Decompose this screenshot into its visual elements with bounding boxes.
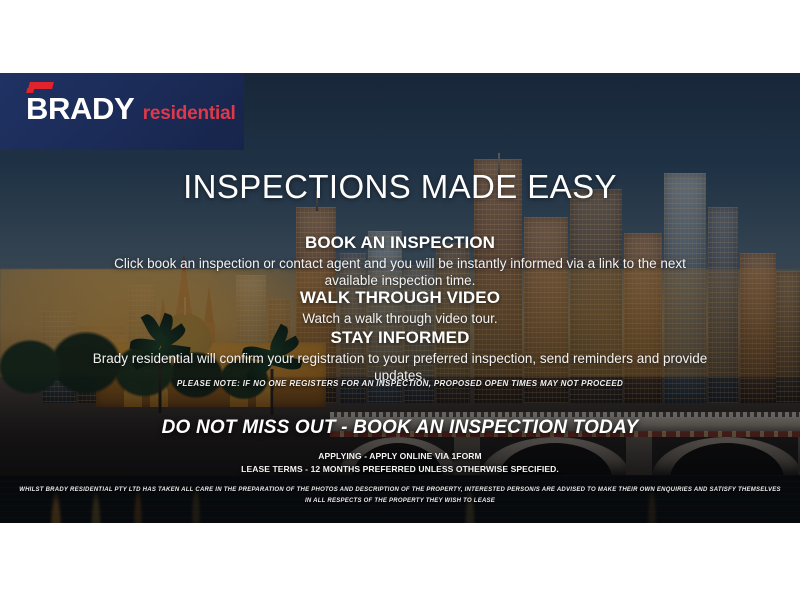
section-walk-through-video: WALK THROUGH VIDEO Watch a walk through … [0,288,800,327]
logo-suffix-text: residential [143,104,236,123]
section-title: BOOK AN INSPECTION [0,233,800,253]
hero-banner: BRADY residential INSPECTIONS MADE EASY … [0,73,800,523]
section-stay-informed: STAY INFORMED Brady residential will con… [0,328,800,385]
logo-brand-text: BRADY [26,93,134,124]
brady-residential-logo[interactable]: BRADY residential [0,73,244,150]
call-to-action-text: DO NOT MISS OUT - BOOK AN INSPECTION TOD… [0,417,800,439]
section-body: Click book an inspection or contact agen… [90,255,710,290]
section-book-an-inspection: BOOK AN INSPECTION Click book an inspect… [0,233,800,290]
legal-disclaimer: WHILST BRADY RESIDENTIAL PTY LTD HAS TAK… [0,485,800,506]
logo-inner: BRADY residential [26,93,236,124]
section-title: STAY INFORMED [0,328,800,348]
section-title: WALK THROUGH VIDEO [0,288,800,308]
brady-flag-icon [28,82,54,89]
please-note-text: PLEASE NOTE: IF NO ONE REGISTERS FOR AN … [0,379,800,388]
lease-terms-block: APPLYING - APPLY ONLINE VIA 1FORM LEASE … [0,450,800,476]
lease-terms-line: LEASE TERMS - 12 MONTHS PREFERRED UNLESS… [0,463,800,476]
section-body: Watch a walk through video tour. [90,310,710,327]
page-title: INSPECTIONS MADE EASY [0,168,800,206]
listing-banner-page: BRADY residential INSPECTIONS MADE EASY … [0,0,800,600]
applying-line: APPLYING - APPLY ONLINE VIA 1FORM [0,450,800,463]
